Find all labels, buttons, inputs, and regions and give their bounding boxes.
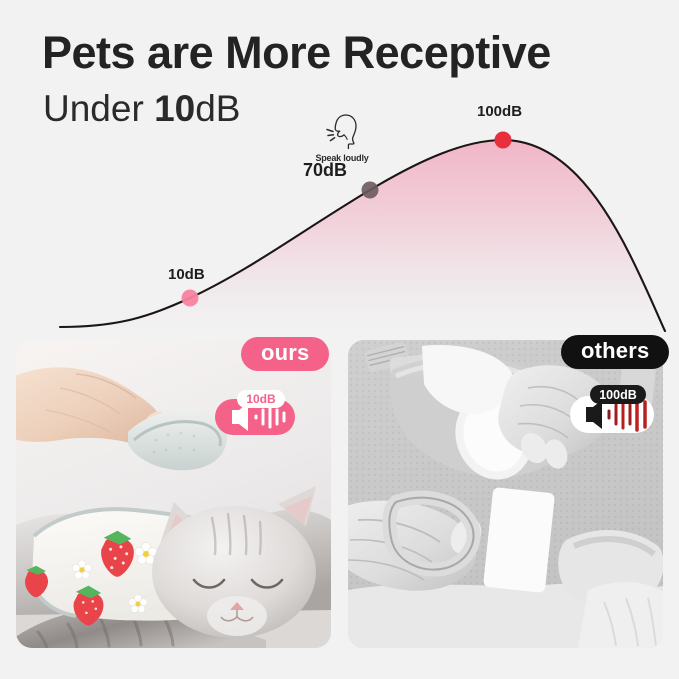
product-photo-ours xyxy=(16,340,331,648)
curve-area-fill xyxy=(60,140,665,335)
header-section: Pets are More Receptive Under 10dB 10dB … xyxy=(0,0,679,330)
cat-head xyxy=(152,486,316,638)
speak-loudly-annotation: Speak loudly xyxy=(310,112,374,163)
ours-photo-illustration xyxy=(16,340,331,648)
badge-ours: ours xyxy=(241,337,329,371)
db-tag-others-label: 100dB xyxy=(599,388,637,402)
data-label-100db: 100dB xyxy=(477,103,522,120)
db-tag-ours-label: 10dB xyxy=(246,392,276,406)
data-point-100db xyxy=(495,132,512,149)
data-label-10db: 10dB xyxy=(168,266,205,283)
data-label-70db: 70dB xyxy=(303,160,347,181)
data-point-70db xyxy=(362,182,379,199)
data-point-10db xyxy=(182,290,199,307)
velcro-strip-white xyxy=(483,487,555,593)
badge-others: others xyxy=(561,335,669,369)
db-badge-others: 100dB xyxy=(560,385,665,431)
speak-loudly-label: Speak loudly xyxy=(310,153,374,163)
speaking-head-icon xyxy=(322,112,362,152)
db-badge-ours: 10dB xyxy=(203,390,308,436)
